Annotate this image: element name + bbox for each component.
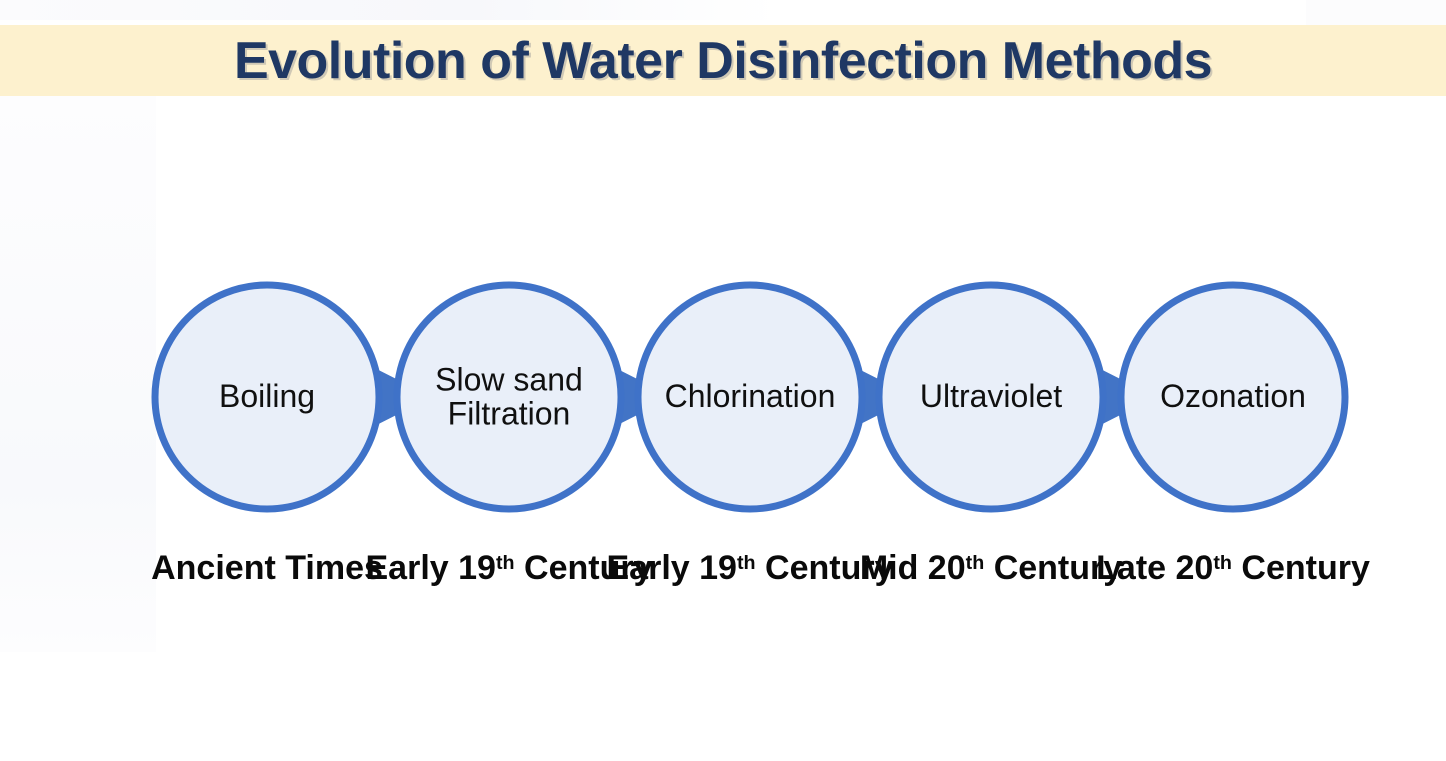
stage-circle-2[interactable] [397,285,621,509]
era-prefix-3: Early 19 [607,549,737,587]
era-suffix-5: Century [1232,549,1370,587]
stage-circle-5[interactable] [1121,285,1345,509]
stage-era-label-4: Mid 20th Century [860,551,1122,585]
diagram-canvas [0,96,1446,616]
page-title: Evolution of Water Disinfection Methods [234,35,1212,87]
era-ordinal-4: th [966,552,985,574]
background-wash-top-left [0,0,780,20]
era-prefix-2: Early 19 [366,549,496,587]
stage-circle-4[interactable] [879,285,1103,509]
stage-circle-3[interactable] [638,285,862,509]
stage-circle-1[interactable] [155,285,379,509]
title-banner: Evolution of Water Disinfection Methods [0,25,1446,96]
background-wash-top-right [1306,0,1446,26]
era-ordinal-2: th [496,552,515,574]
circle-layer [155,285,1345,509]
era-prefix-5: Late 20 [1096,549,1213,587]
stage-era-label-1: Ancient Times [151,551,383,585]
era-prefix-4: Mid 20 [860,549,966,587]
era-prefix-1: Ancient Times [151,549,383,587]
stage-era-label-3: Early 19th Century [607,551,894,585]
process-flow-diagram: BoilingSlow sand FiltrationChlorinationU… [0,96,1446,616]
era-ordinal-5: th [1213,552,1232,574]
era-ordinal-3: th [737,552,756,574]
stage-era-label-5: Late 20th Century [1096,551,1370,585]
